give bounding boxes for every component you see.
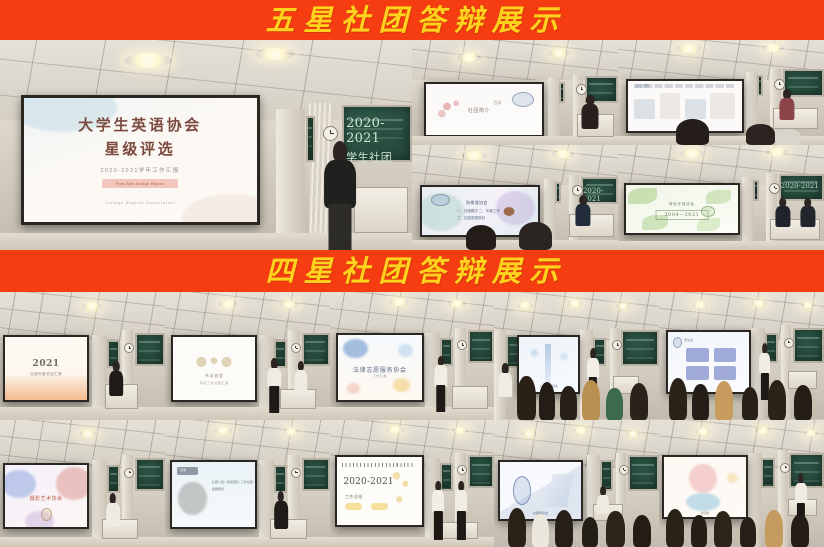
- slide-footer: College English Association: [105, 200, 176, 205]
- slide-leaf: [706, 190, 730, 205]
- photo-four-star-2: 书法协会 年度工作总结汇报: [165, 292, 330, 420]
- slide-pill-art: [371, 503, 388, 510]
- five-star-photo-grid: 社团简介 目录: [412, 40, 824, 250]
- presenter-torso: [432, 490, 444, 512]
- audience-head: [714, 511, 732, 547]
- wall-clock: [291, 468, 301, 478]
- presenter-torso: [434, 365, 447, 386]
- presenter: [775, 198, 791, 234]
- audience-row: [618, 109, 824, 145]
- ceiling-lamp: [79, 430, 97, 437]
- blackboard-sliver: [757, 75, 763, 96]
- audience-head: [740, 517, 756, 547]
- presenter-torso: [109, 371, 123, 396]
- audience-head: [791, 514, 809, 547]
- slide-doodle-art: [388, 467, 417, 517]
- audience-head: [669, 378, 687, 420]
- stage-platform: [618, 241, 824, 250]
- photo-four-star-6: 摄影艺术协会: [0, 420, 165, 547]
- slide-title: 绿色环保协会: [669, 202, 695, 207]
- banner-four-star-text: 四星社团答辩展示: [257, 257, 567, 286]
- presenter: [321, 141, 358, 250]
- photo-four-star-4: 心理健康协会: [494, 292, 659, 420]
- slide-subtitle: 社团介绍 / 活动回顾 / 工作总结 / 发展规划: [212, 479, 255, 493]
- presenter: [105, 493, 120, 534]
- presenter-legs: [328, 204, 351, 250]
- photo-five-star-main: 2020-2021 学生社团 大学生英语协会 星级评选 2020-2021学年工…: [0, 40, 412, 250]
- audience-head: [715, 381, 733, 420]
- slide-title: 社团简介: [468, 107, 490, 114]
- slide-title: 跆拳道协会: [466, 200, 488, 206]
- slide-subtitle: 工作汇报: [373, 374, 387, 378]
- audience-head: [539, 382, 555, 419]
- blackboard: [468, 455, 494, 488]
- slide-blob: [347, 383, 360, 395]
- slide-subtitle: 社团年度总结汇报: [30, 372, 62, 377]
- slide-blob: [398, 344, 413, 357]
- blackboard-sliver: [107, 465, 120, 493]
- blackboard: [135, 458, 165, 491]
- presenter-torso: [274, 501, 288, 529]
- audience-row: [494, 366, 659, 420]
- slide-content: 社团介绍 / 活动回顾 / 工作总结 / 发展规划 目录: [172, 462, 255, 527]
- slide-pill: Five-Star Annual Report: [102, 179, 178, 188]
- ceiling-lamp: [448, 300, 466, 307]
- audience-head: [746, 124, 775, 145]
- slide-calligraphy-art: [193, 354, 235, 370]
- slide-content: 法律志愿服务协会 工作汇报: [338, 335, 421, 400]
- photo-four-star-5: 学生会: [659, 292, 824, 420]
- slide-blob: [560, 353, 567, 361]
- slide-subtitle: 年度工作总结汇报: [200, 381, 229, 385]
- audience-row: [659, 496, 824, 547]
- pillar: [276, 109, 305, 250]
- photo-four-star-1: 2021 社团年度总结汇报: [0, 292, 165, 420]
- slide-emblem-circle: [178, 482, 206, 516]
- ceiling-lamp: [567, 300, 583, 307]
- presenter: [432, 481, 445, 540]
- slide-title: 大学生英语协会: [78, 114, 202, 135]
- photo-five-star-d: 2020-2021 跆拳道协会 一、社团概况 二、年度工作 三、社团发展规划: [412, 145, 618, 250]
- blackboard: [793, 328, 824, 364]
- slide-blob: [393, 378, 410, 392]
- slide-blossom-art: [433, 96, 472, 122]
- audience-head: [582, 380, 600, 420]
- slide-blob: [531, 349, 538, 357]
- slide-emblem: [701, 206, 715, 217]
- presenter-torso: [775, 206, 790, 227]
- slide-title: 2021: [33, 359, 60, 369]
- presenter: [799, 198, 815, 234]
- stage-platform: [0, 407, 165, 420]
- podium: [452, 386, 488, 409]
- slide-subtitle: 2020-2021学年工作汇报: [101, 166, 180, 174]
- audience-head: [691, 515, 707, 547]
- presenter-legs: [457, 511, 465, 540]
- ceiling-lamp: [386, 426, 404, 433]
- projector-screen: 法律志愿服务协会 工作汇报: [336, 333, 423, 402]
- presenter-torso: [800, 206, 815, 227]
- audience-head: [630, 383, 648, 419]
- ceiling-lamp: [452, 427, 468, 434]
- slide-blob: [727, 473, 738, 484]
- slide-emblem: [431, 194, 449, 207]
- audience-head: [606, 511, 624, 547]
- photo-four-star-8: 2020-2021 工作总结: [330, 420, 495, 547]
- four-star-photo-section: 2021 社团年度总结汇报: [0, 292, 824, 547]
- five-star-photo-section: 2020-2021 学生社团 大学生英语协会 星级评选 2020-2021学年工…: [0, 40, 824, 250]
- presenter-legs: [436, 385, 445, 412]
- presenter: [267, 358, 282, 412]
- ceiling-lamp: [457, 53, 481, 62]
- presenter: [433, 356, 448, 412]
- audience-row: [412, 214, 618, 250]
- ceiling-lamp: [692, 301, 708, 308]
- wall-clock: [576, 84, 587, 95]
- slide-content: 社团简介 目录: [426, 84, 541, 135]
- presenter-torso: [268, 368, 281, 387]
- presenter: [274, 491, 289, 537]
- blackboard: [302, 458, 330, 491]
- audience-head: [633, 515, 651, 547]
- wall-clock: [572, 185, 583, 196]
- presenter-torso: [294, 370, 307, 395]
- slide-content: 大学生英语协会 星级评选 2020-2021学年工作汇报 Five-Star A…: [24, 98, 257, 222]
- presenter: [455, 481, 468, 540]
- audience-head: [692, 384, 708, 419]
- slide-emblem: [41, 508, 52, 520]
- audience-head: [666, 509, 684, 547]
- photo-five-star-b: 社团简介 目录: [412, 40, 618, 145]
- photo-five-star-e: 2020-2021 绿色环保协会 2004—2021: [618, 145, 824, 250]
- blackboard: [621, 330, 659, 366]
- audience-head: [765, 510, 783, 547]
- ceiling-lamp: [755, 427, 771, 434]
- audience-head: [517, 376, 535, 420]
- blackboard-year-text: 2020-2021: [781, 182, 819, 190]
- ceiling-lamp: [280, 301, 298, 308]
- presenter: [293, 361, 308, 404]
- slide-subtitle: 目录: [493, 99, 501, 107]
- audience-head: [775, 129, 802, 145]
- slide-subtitle: 工作总结: [345, 494, 363, 500]
- stage-platform: [0, 537, 165, 547]
- audience-head: [742, 387, 758, 419]
- wall-clock: [784, 338, 794, 348]
- ceiling-lamp: [521, 430, 537, 437]
- projector-screen: 社团简介 目录: [424, 82, 543, 137]
- podium: [354, 187, 408, 233]
- slide-content: 2020-2021 工作总结: [337, 457, 422, 524]
- ceiling-lamp: [218, 300, 238, 308]
- blackboard-sliver: [306, 116, 315, 162]
- presenter-torso: [106, 503, 120, 527]
- presenter: [109, 361, 124, 404]
- four-star-photo-grid: 2021 社团年度总结汇报: [0, 292, 824, 547]
- projector-screen: 大学生英语协会 星级评选 2020-2021学年工作汇报 Five-Star A…: [21, 95, 260, 225]
- photo-four-star-10: 动漫社: [659, 420, 824, 547]
- slide-emblem: [512, 92, 534, 107]
- photo-four-star-7: 社团介绍 / 活动回顾 / 工作总结 / 发展规划 目录: [165, 420, 330, 547]
- slide-character-art: [689, 464, 717, 493]
- blackboard-sliver: [559, 82, 565, 103]
- audience-head: [532, 514, 548, 547]
- blackboard-sliver: [274, 465, 287, 493]
- blackboard: [628, 455, 659, 491]
- slide-content: 书法协会 年度工作总结汇报: [173, 337, 255, 399]
- audience-row: [659, 366, 824, 420]
- banner-five-star: 五星社团答辩展示: [0, 0, 824, 40]
- slide-pill-art: [345, 503, 362, 510]
- wall-clock: [291, 343, 301, 353]
- presenter-torso: [455, 490, 467, 512]
- presenter-head: [333, 141, 347, 163]
- slide-title: 目录: [180, 468, 186, 472]
- slide-title: 2020-2021: [343, 477, 393, 487]
- slide-blob: [182, 194, 257, 221]
- slide-title: 书法协会: [205, 373, 224, 379]
- projector-screen: 书法协会 年度工作总结汇报: [171, 335, 257, 401]
- blackboard-sliver: [761, 458, 774, 489]
- slide-title: 活动回顾: [635, 84, 649, 89]
- projector-screen: 绿色环保协会 2004—2021: [624, 183, 739, 236]
- presenter-torso: [324, 160, 356, 208]
- slide-crowd-art: [5, 376, 87, 400]
- wall-clock: [774, 79, 785, 90]
- projector-screen: 2021 社团年度总结汇报: [3, 335, 89, 401]
- slide-title-line2: 星级评选: [105, 138, 176, 159]
- presenter-torso: [582, 104, 599, 129]
- projector-screen: 2020-2021 工作总结: [335, 455, 424, 526]
- presenter-legs: [270, 386, 279, 413]
- audience-head: [606, 388, 622, 419]
- audience-head: [508, 508, 526, 547]
- audience-head: [768, 380, 786, 420]
- ceiling-lamp: [751, 300, 767, 307]
- audience-head: [519, 222, 552, 250]
- slide-blob: [343, 339, 368, 358]
- banner-five-star-text: 五星社团答辩展示: [257, 6, 567, 35]
- projector-screen: 社团介绍 / 活动回顾 / 工作总结 / 发展规划 目录: [170, 460, 257, 529]
- audience-head: [794, 385, 812, 419]
- slide-title: 法律志愿服务协会: [353, 365, 407, 374]
- photo-four-star-9: 社团联合会: [494, 420, 659, 547]
- audience-head: [676, 119, 709, 145]
- audience-head: [560, 386, 576, 419]
- slide-content: 2021 社团年度总结汇报: [5, 337, 87, 399]
- photo-four-star-3: 法律志愿服务协会 工作汇报: [330, 292, 495, 420]
- audience-row: [494, 496, 659, 547]
- banner-four-star: 四星社团答辩展示: [0, 250, 824, 292]
- presenter-legs: [434, 511, 442, 540]
- slide-emblem: [673, 337, 682, 348]
- presenter: [581, 95, 600, 137]
- audience-head: [582, 517, 598, 547]
- stage-platform: [412, 136, 618, 145]
- audience-head: [466, 225, 497, 250]
- blackboard-sliver: [555, 182, 561, 203]
- blackboard: [468, 330, 494, 363]
- slide-header-bar: [634, 84, 736, 88]
- ceiling-lamp: [124, 53, 172, 68]
- poster-root: 五星社团答辩展示 2020-2021 学生社团 大学生英语协会: [0, 0, 824, 547]
- blackboard: [135, 333, 165, 366]
- slide-title: 学生会: [684, 338, 693, 342]
- projector-screen: 摄影艺术协会: [3, 463, 89, 529]
- slide-content: 摄影艺术协会: [5, 465, 87, 527]
- slide-title: 摄影艺术协会: [30, 495, 63, 502]
- slide-leaf: [628, 188, 657, 204]
- blackboard-sliver: [753, 180, 759, 201]
- audience-head: [555, 510, 573, 547]
- slide-card: [714, 348, 737, 362]
- slide-card: [686, 348, 709, 362]
- slide-content: 绿色环保协会 2004—2021: [626, 185, 737, 234]
- photo-five-star-c: 活动回顾: [618, 40, 824, 145]
- ceiling-lamp: [804, 430, 818, 436]
